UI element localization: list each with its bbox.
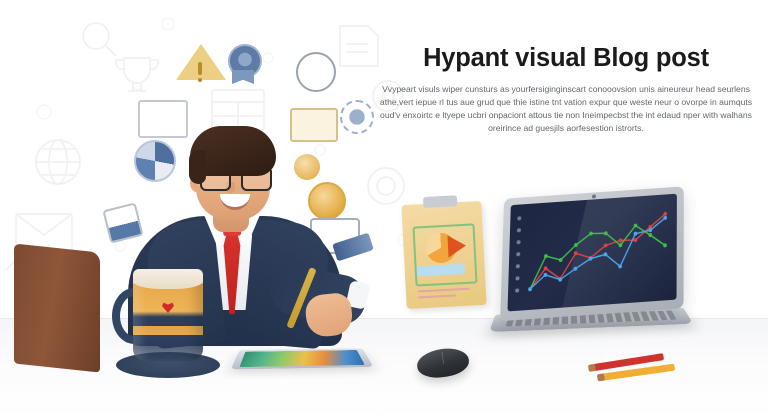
clipboard-arrow-icon xyxy=(447,235,466,258)
coffee-mug xyxy=(133,269,203,361)
chart-point xyxy=(574,243,578,247)
chart-point xyxy=(543,273,547,277)
illustration-scene xyxy=(0,0,768,419)
chart-point xyxy=(619,238,623,242)
chart-point xyxy=(663,216,667,220)
chart-point xyxy=(633,238,637,242)
webcam-icon xyxy=(592,194,596,198)
chart-point xyxy=(573,267,577,271)
chart-point xyxy=(634,232,638,236)
clipboard-clip xyxy=(423,195,458,208)
mug-foam xyxy=(133,269,203,289)
chart-point xyxy=(589,231,593,235)
line-chart xyxy=(507,194,676,312)
tablet-screen[interactable] xyxy=(239,350,364,367)
mouse-button-divider xyxy=(441,352,444,364)
chart-line-blue xyxy=(530,218,665,289)
chart-point xyxy=(574,251,578,255)
chart-point xyxy=(528,287,532,291)
blog-hero-banner: Hypant visual Blog post Vvypeart visuls … xyxy=(0,0,768,419)
laptop-device[interactable] xyxy=(494,192,690,352)
chart-point xyxy=(559,258,563,262)
clipboard-text-line xyxy=(418,288,470,293)
chart-line-red xyxy=(530,214,665,289)
chart-point xyxy=(604,243,608,247)
laptop-lid xyxy=(500,186,684,321)
chart-point xyxy=(663,212,667,216)
mug-heart-motif xyxy=(162,302,174,313)
laptop-screen[interactable] xyxy=(507,194,676,312)
chart-point xyxy=(544,254,548,258)
tablet-device[interactable] xyxy=(231,348,373,369)
office-chair xyxy=(14,243,100,372)
clipboard-text-line xyxy=(418,294,456,298)
hair-side xyxy=(189,150,206,184)
